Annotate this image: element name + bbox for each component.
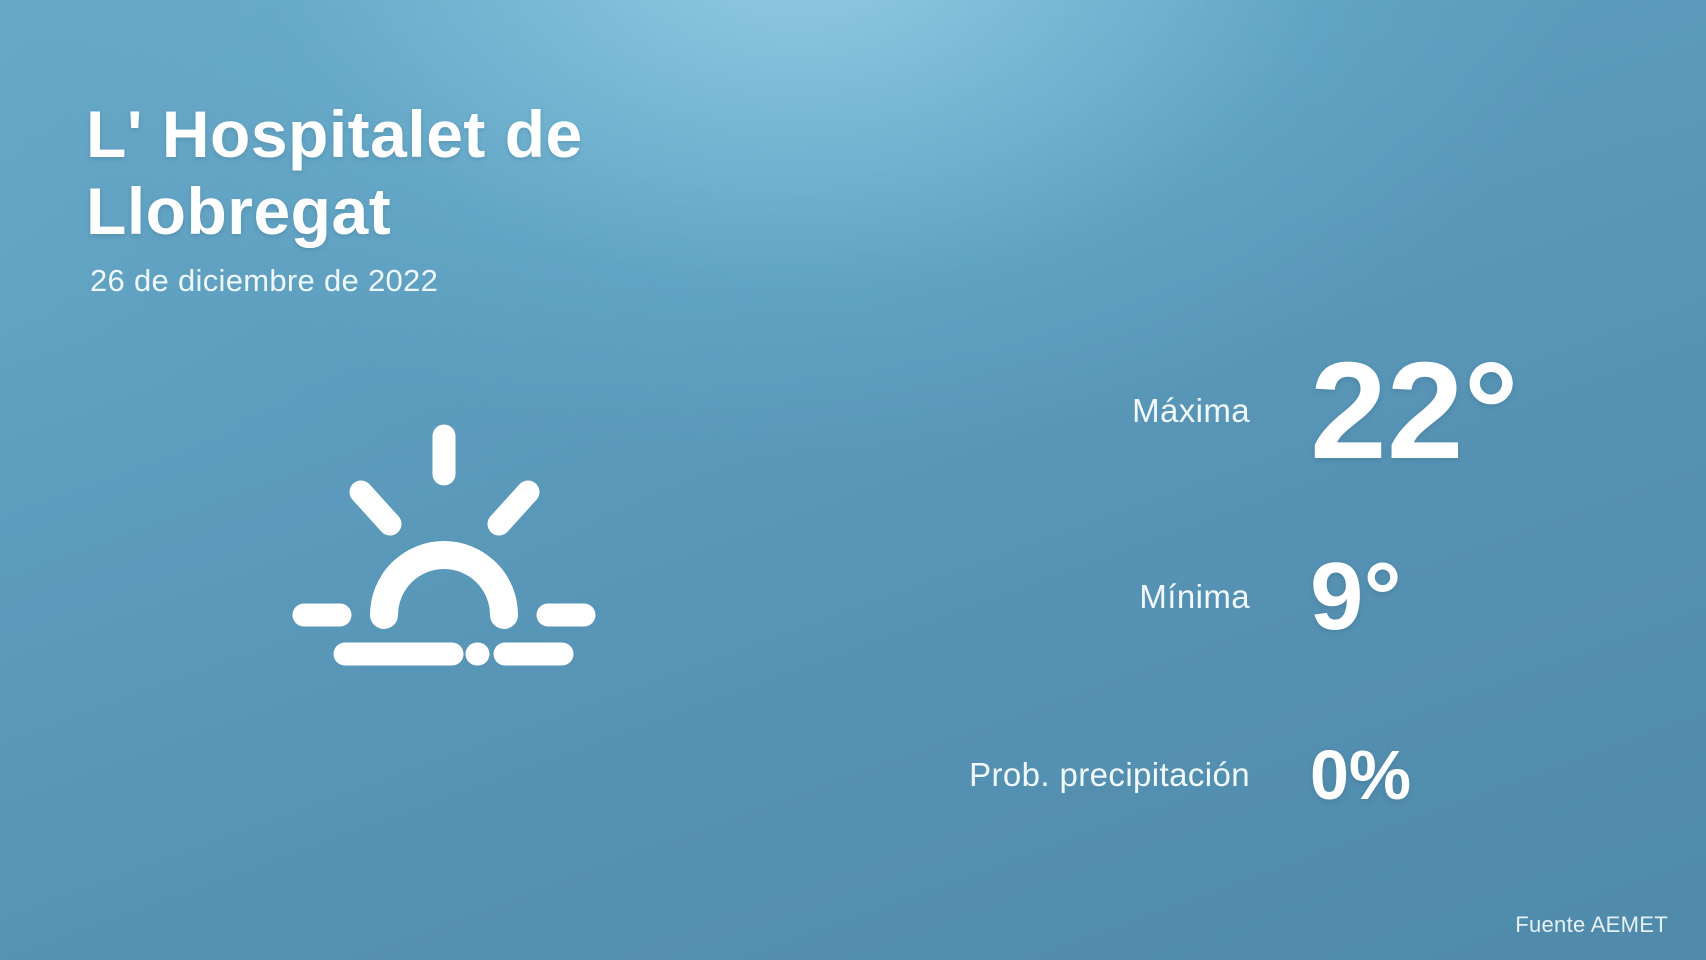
maxima-label: Máxima bbox=[1132, 392, 1310, 430]
reading-row-maxima: Máxima 22° bbox=[600, 318, 1640, 504]
page-title: L' Hospitalet de Llobregat bbox=[86, 96, 906, 249]
sun-ray-left-icon bbox=[361, 492, 390, 524]
maxima-value: 22° bbox=[1310, 342, 1640, 480]
readings-list: Máxima 22° Mínima 9° Prob. precipitación… bbox=[600, 318, 1640, 860]
forecast-date: 26 de diciembre de 2022 bbox=[90, 263, 986, 299]
reading-row-precipitacion: Prob. precipitación 0% bbox=[600, 690, 1640, 860]
sun-fog-icon bbox=[262, 390, 622, 670]
sun-fog-icon-svg bbox=[262, 390, 622, 670]
precipitacion-label: Prob. precipitación bbox=[969, 756, 1310, 794]
sun-ray-right-icon bbox=[499, 492, 528, 524]
precipitacion-value: 0% bbox=[1310, 740, 1640, 810]
sun-dome-icon bbox=[384, 555, 504, 615]
header-block: L' Hospitalet de Llobregat 26 de diciemb… bbox=[86, 96, 986, 299]
source-attribution: Fuente AEMET bbox=[1515, 912, 1668, 938]
weather-card: L' Hospitalet de Llobregat 26 de diciemb… bbox=[0, 0, 1706, 960]
minima-label: Mínima bbox=[1139, 578, 1310, 616]
minima-value: 9° bbox=[1310, 549, 1640, 645]
reading-row-minima: Mínima 9° bbox=[600, 504, 1640, 690]
